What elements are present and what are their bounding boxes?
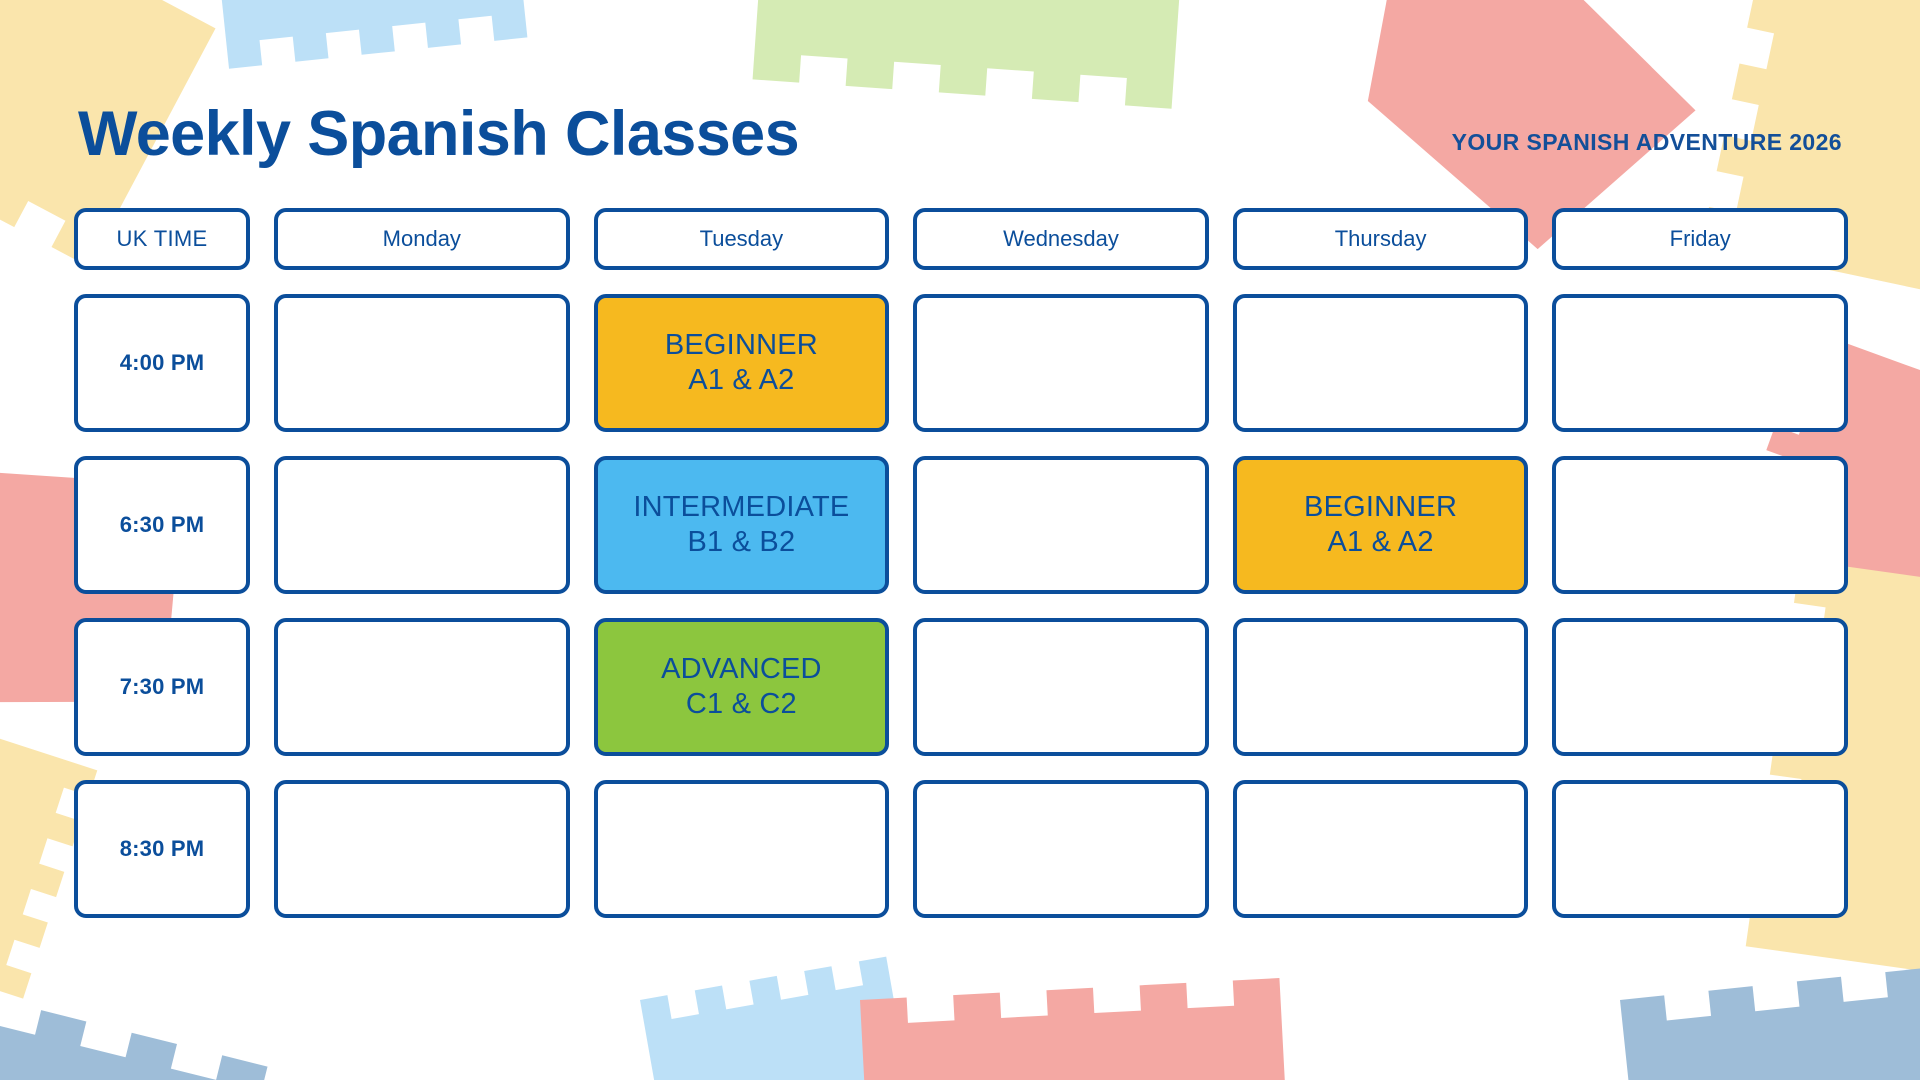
class-name: ADVANCED [661, 653, 822, 686]
empty-slot-thursday[interactable] [1233, 294, 1529, 432]
time-label: 7:30 PM [74, 618, 250, 756]
column-header-tuesday: Tuesday [594, 208, 890, 270]
time-label: 4:00 PM [74, 294, 250, 432]
weekly-schedule-grid: UK TIMEMondayTuesdayWednesdayThursdayFri… [74, 208, 1848, 918]
class-name: BEGINNER [1304, 491, 1457, 524]
empty-slot-wednesday[interactable] [913, 618, 1209, 756]
time-label: 6:30 PM [74, 456, 250, 594]
empty-slot-wednesday[interactable] [913, 456, 1209, 594]
empty-slot-tuesday[interactable] [594, 780, 890, 918]
column-header-time: UK TIME [74, 208, 250, 270]
class-name: INTERMEDIATE [633, 491, 849, 524]
empty-slot-friday[interactable] [1552, 618, 1848, 756]
empty-slot-friday[interactable] [1552, 780, 1848, 918]
class-name: BEGINNER [665, 329, 818, 362]
class-slot-thursday[interactable]: BEGINNERA1 & A2 [1233, 456, 1529, 594]
column-header-wednesday: Wednesday [913, 208, 1209, 270]
class-slot-tuesday[interactable]: BEGINNERA1 & A2 [594, 294, 890, 432]
empty-slot-thursday[interactable] [1233, 618, 1529, 756]
empty-slot-friday[interactable] [1552, 294, 1848, 432]
column-header-friday: Friday [1552, 208, 1848, 270]
empty-slot-monday[interactable] [274, 294, 570, 432]
column-header-thursday: Thursday [1233, 208, 1529, 270]
class-slot-tuesday[interactable]: INTERMEDIATEB1 & B2 [594, 456, 890, 594]
page-title: Weekly Spanish Classes [78, 103, 799, 168]
empty-slot-wednesday[interactable] [913, 780, 1209, 918]
empty-slot-wednesday[interactable] [913, 294, 1209, 432]
class-levels: A1 & A2 [1327, 526, 1433, 559]
class-slot-tuesday[interactable]: ADVANCEDC1 & C2 [594, 618, 890, 756]
class-levels: A1 & A2 [688, 364, 794, 397]
column-header-monday: Monday [274, 208, 570, 270]
class-levels: C1 & C2 [686, 688, 797, 721]
empty-slot-monday[interactable] [274, 780, 570, 918]
empty-slot-monday[interactable] [274, 456, 570, 594]
empty-slot-monday[interactable] [274, 618, 570, 756]
page-header: Weekly Spanish Classes YOUR SPANISH ADVE… [78, 90, 1842, 168]
class-levels: B1 & B2 [687, 526, 795, 559]
page-kicker: YOUR SPANISH ADVENTURE 2026 [1452, 129, 1842, 168]
empty-slot-friday[interactable] [1552, 456, 1848, 594]
time-label: 8:30 PM [74, 780, 250, 918]
empty-slot-thursday[interactable] [1233, 780, 1529, 918]
